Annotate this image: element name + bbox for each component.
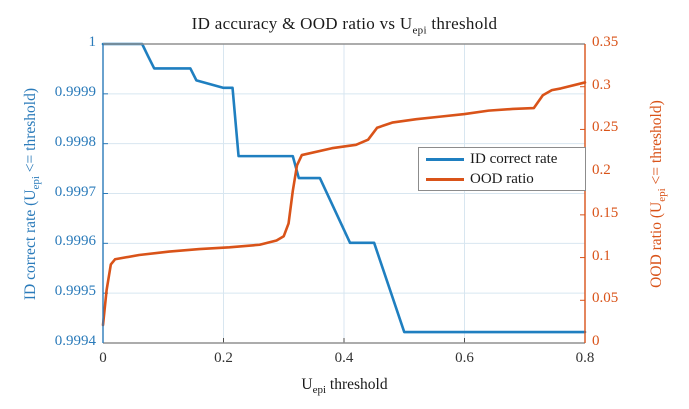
gridlines: [103, 44, 585, 343]
x-axis-label-pre: U: [301, 376, 312, 393]
left-y-axis-label-post: <= threshold): [22, 88, 39, 176]
x-tick-label: 0.6: [435, 350, 495, 367]
x-tick-label: 0.8: [555, 350, 615, 367]
right-y-tick-label: 0: [592, 333, 652, 350]
legend-item-id-correct-rate: ID correct rate: [419, 149, 557, 170]
left-y-tick-label: 1: [1, 34, 96, 51]
legend-item-ood-ratio: OOD ratio: [419, 169, 534, 190]
left-y-tick-label: 0.9999: [1, 84, 96, 101]
left-y-tick-label: 0.9995: [1, 283, 96, 300]
right-y-tick-label: 0.05: [592, 290, 652, 307]
x-tick-label: 0: [73, 350, 133, 367]
x-tick-label: 0.2: [194, 350, 254, 367]
right-y-tick-label: 0.3: [592, 77, 652, 94]
left-y-tick-label: 0.9994: [1, 333, 96, 350]
chart-legend: ID correct rate OOD ratio: [418, 147, 586, 191]
plot-area: [0, 0, 689, 409]
legend-label-ood-ratio: OOD ratio: [470, 171, 534, 188]
chart-figure: ID accuracy & OOD ratio vs Uepi threshol…: [0, 0, 689, 409]
x-axis-label-post: threshold: [326, 376, 388, 393]
right-y-tick-label: 0.35: [592, 34, 652, 51]
legend-swatch-id-correct-rate: [426, 158, 464, 161]
left-y-tick-label: 0.9996: [1, 233, 96, 250]
right-y-tick-label: 0.15: [592, 205, 652, 222]
x-axis-label: Uepi threshold: [0, 376, 689, 396]
right-y-axis-label-subscript: epi: [656, 188, 668, 201]
legend-swatch-ood-ratio: [426, 178, 464, 181]
right-y-tick-label: 0.2: [592, 162, 652, 179]
legend-label-id-correct-rate: ID correct rate: [470, 151, 557, 168]
x-tick-label: 0.4: [314, 350, 374, 367]
x-axis-label-subscript: epi: [313, 384, 326, 396]
right-y-tick-label: 0.1: [592, 248, 652, 265]
left-y-tick-label: 0.9998: [1, 134, 96, 151]
left-y-tick-label: 0.9997: [1, 184, 96, 201]
right-y-tick-label: 0.25: [592, 119, 652, 136]
